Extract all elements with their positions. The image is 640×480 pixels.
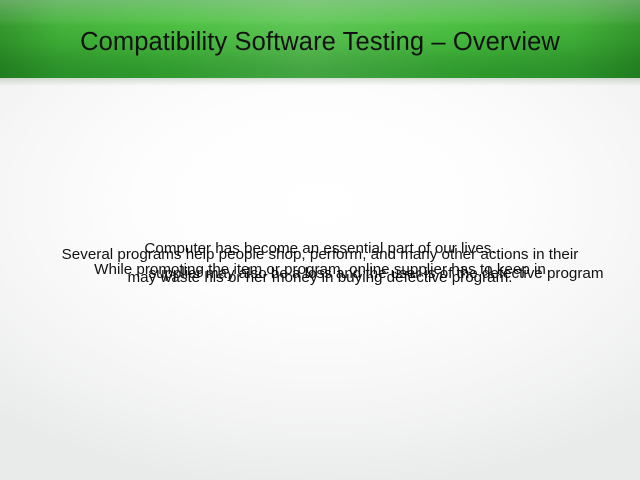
page-title: Compatibility Software Testing – Overvie…: [0, 0, 640, 78]
body-text-block-e: supplier may also be a loss and the user…: [120, 266, 632, 283]
presentation-slide: Compatibility Software Testing – Overvie…: [0, 0, 640, 480]
